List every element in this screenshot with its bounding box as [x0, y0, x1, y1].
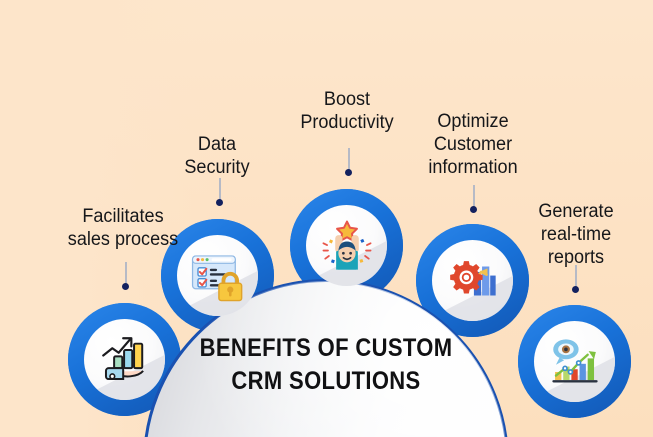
- hand-holding-growth-chart-icon: [84, 319, 165, 400]
- node-disc: [534, 321, 615, 402]
- connector-line-boost-productivity: [348, 148, 350, 170]
- connector-line-optimize-customer: [473, 185, 475, 207]
- page-title: BENEFITS OF CUSTOM CRM SOLUTIONS: [165, 332, 487, 398]
- benefit-label-data-security: Data Security: [137, 133, 297, 179]
- benefit-node-facilitates-sales-process[interactable]: [68, 303, 181, 416]
- connector-dot-boost-productivity: [345, 169, 352, 176]
- infographic-canvas: Facilitates sales process: [0, 0, 653, 437]
- connector-dot-facilitates: [122, 283, 129, 290]
- connector-dot-optimize-customer: [470, 206, 477, 213]
- node-disc: [84, 319, 165, 400]
- connector-line-data-security: [219, 178, 221, 200]
- benefit-node-boost-productivity[interactable]: [290, 189, 403, 302]
- celebrating-person-star-icon: [306, 205, 387, 286]
- benefit-node-generate-real-time-reports[interactable]: [518, 305, 631, 418]
- connector-line-facilitates: [125, 262, 127, 284]
- benefit-label-facilitates-sales-process: Facilitates sales process: [14, 205, 233, 251]
- benefit-label-generate-real-time-reports: Generate real-time reports: [496, 200, 653, 269]
- benefit-label-optimize-customer-information: Optimize Customer information: [393, 110, 553, 179]
- bar-chart-magnifier-arrow-icon: [534, 321, 615, 402]
- node-disc: [306, 205, 387, 286]
- connector-dot-generate-reports: [572, 286, 579, 293]
